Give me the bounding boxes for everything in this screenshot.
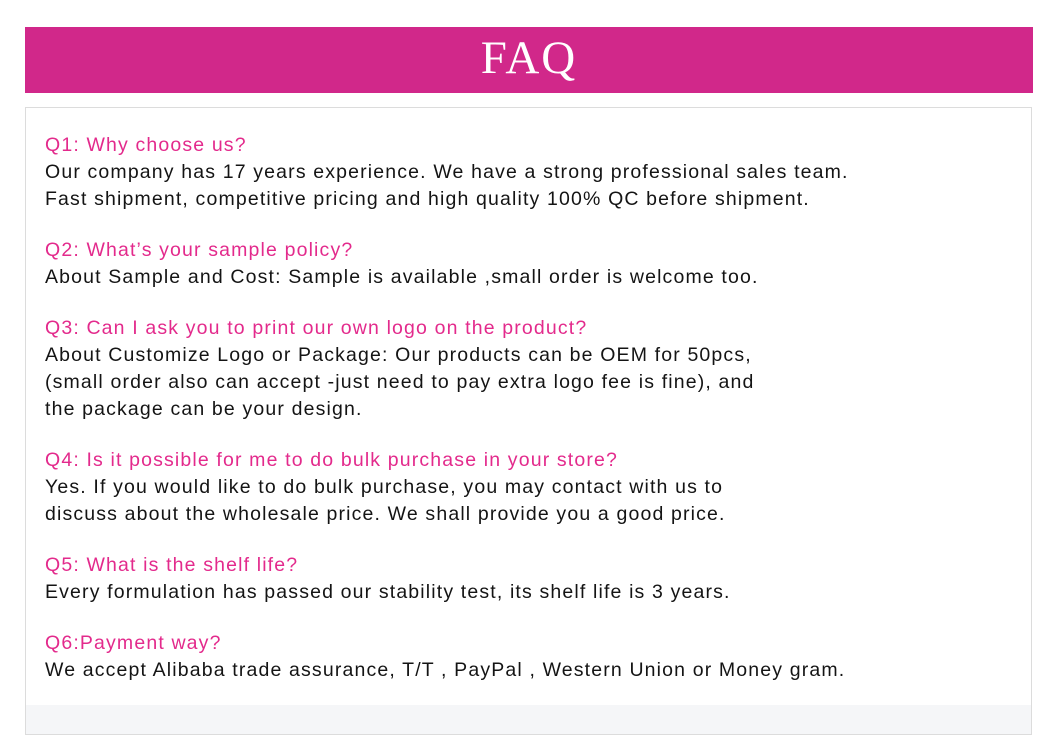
- faq-answer-1-line-2: Fast shipment, competitive pricing and h…: [45, 186, 1019, 213]
- faq-answer-4-line-2: discuss about the wholesale price. We sh…: [45, 501, 1019, 528]
- faq-item-6: Q6:Payment way? We accept Alibaba trade …: [45, 630, 1019, 684]
- faq-answer-5-line-1: Every formulation has passed our stabili…: [45, 579, 1019, 606]
- faq-answer-6-line-1: We accept Alibaba trade assurance, T/T ,…: [45, 657, 1019, 684]
- faq-header-banner: FAQ: [25, 27, 1033, 93]
- faq-question-1: Q1: Why choose us?: [45, 132, 1019, 159]
- faq-answer-2-line-1: About Sample and Cost: Sample is availab…: [45, 264, 1019, 291]
- faq-question-4: Q4: Is it possible for me to do bulk pur…: [45, 447, 1019, 474]
- page-title: FAQ: [481, 35, 578, 85]
- faq-answer-1-line-1: Our company has 17 years experience. We …: [45, 159, 1019, 186]
- faq-footer-strip: [26, 705, 1031, 734]
- faq-question-5: Q5: What is the shelf life?: [45, 552, 1019, 579]
- faq-answer-3-line-3: the package can be your design.: [45, 396, 1019, 423]
- faq-item-2: Q2: What’s your sample policy? About Sam…: [45, 237, 1019, 291]
- faq-content-panel: Q1: Why choose us? Our company has 17 ye…: [25, 107, 1032, 735]
- faq-item-3: Q3: Can I ask you to print our own logo …: [45, 315, 1019, 423]
- faq-item-5: Q5: What is the shelf life? Every formul…: [45, 552, 1019, 606]
- faq-answer-4-line-1: Yes. If you would like to do bulk purcha…: [45, 474, 1019, 501]
- faq-answer-3-line-2: (small order also can accept -just need …: [45, 369, 1019, 396]
- faq-answer-3-line-1: About Customize Logo or Package: Our pro…: [45, 342, 1019, 369]
- faq-page: FAQ Q1: Why choose us? Our company has 1…: [0, 0, 1059, 739]
- faq-item-4: Q4: Is it possible for me to do bulk pur…: [45, 447, 1019, 528]
- faq-question-3: Q3: Can I ask you to print our own logo …: [45, 315, 1019, 342]
- faq-list: Q1: Why choose us? Our company has 17 ye…: [26, 108, 1031, 734]
- faq-item-1: Q1: Why choose us? Our company has 17 ye…: [45, 132, 1019, 213]
- faq-question-2: Q2: What’s your sample policy?: [45, 237, 1019, 264]
- faq-question-6: Q6:Payment way?: [45, 630, 1019, 657]
